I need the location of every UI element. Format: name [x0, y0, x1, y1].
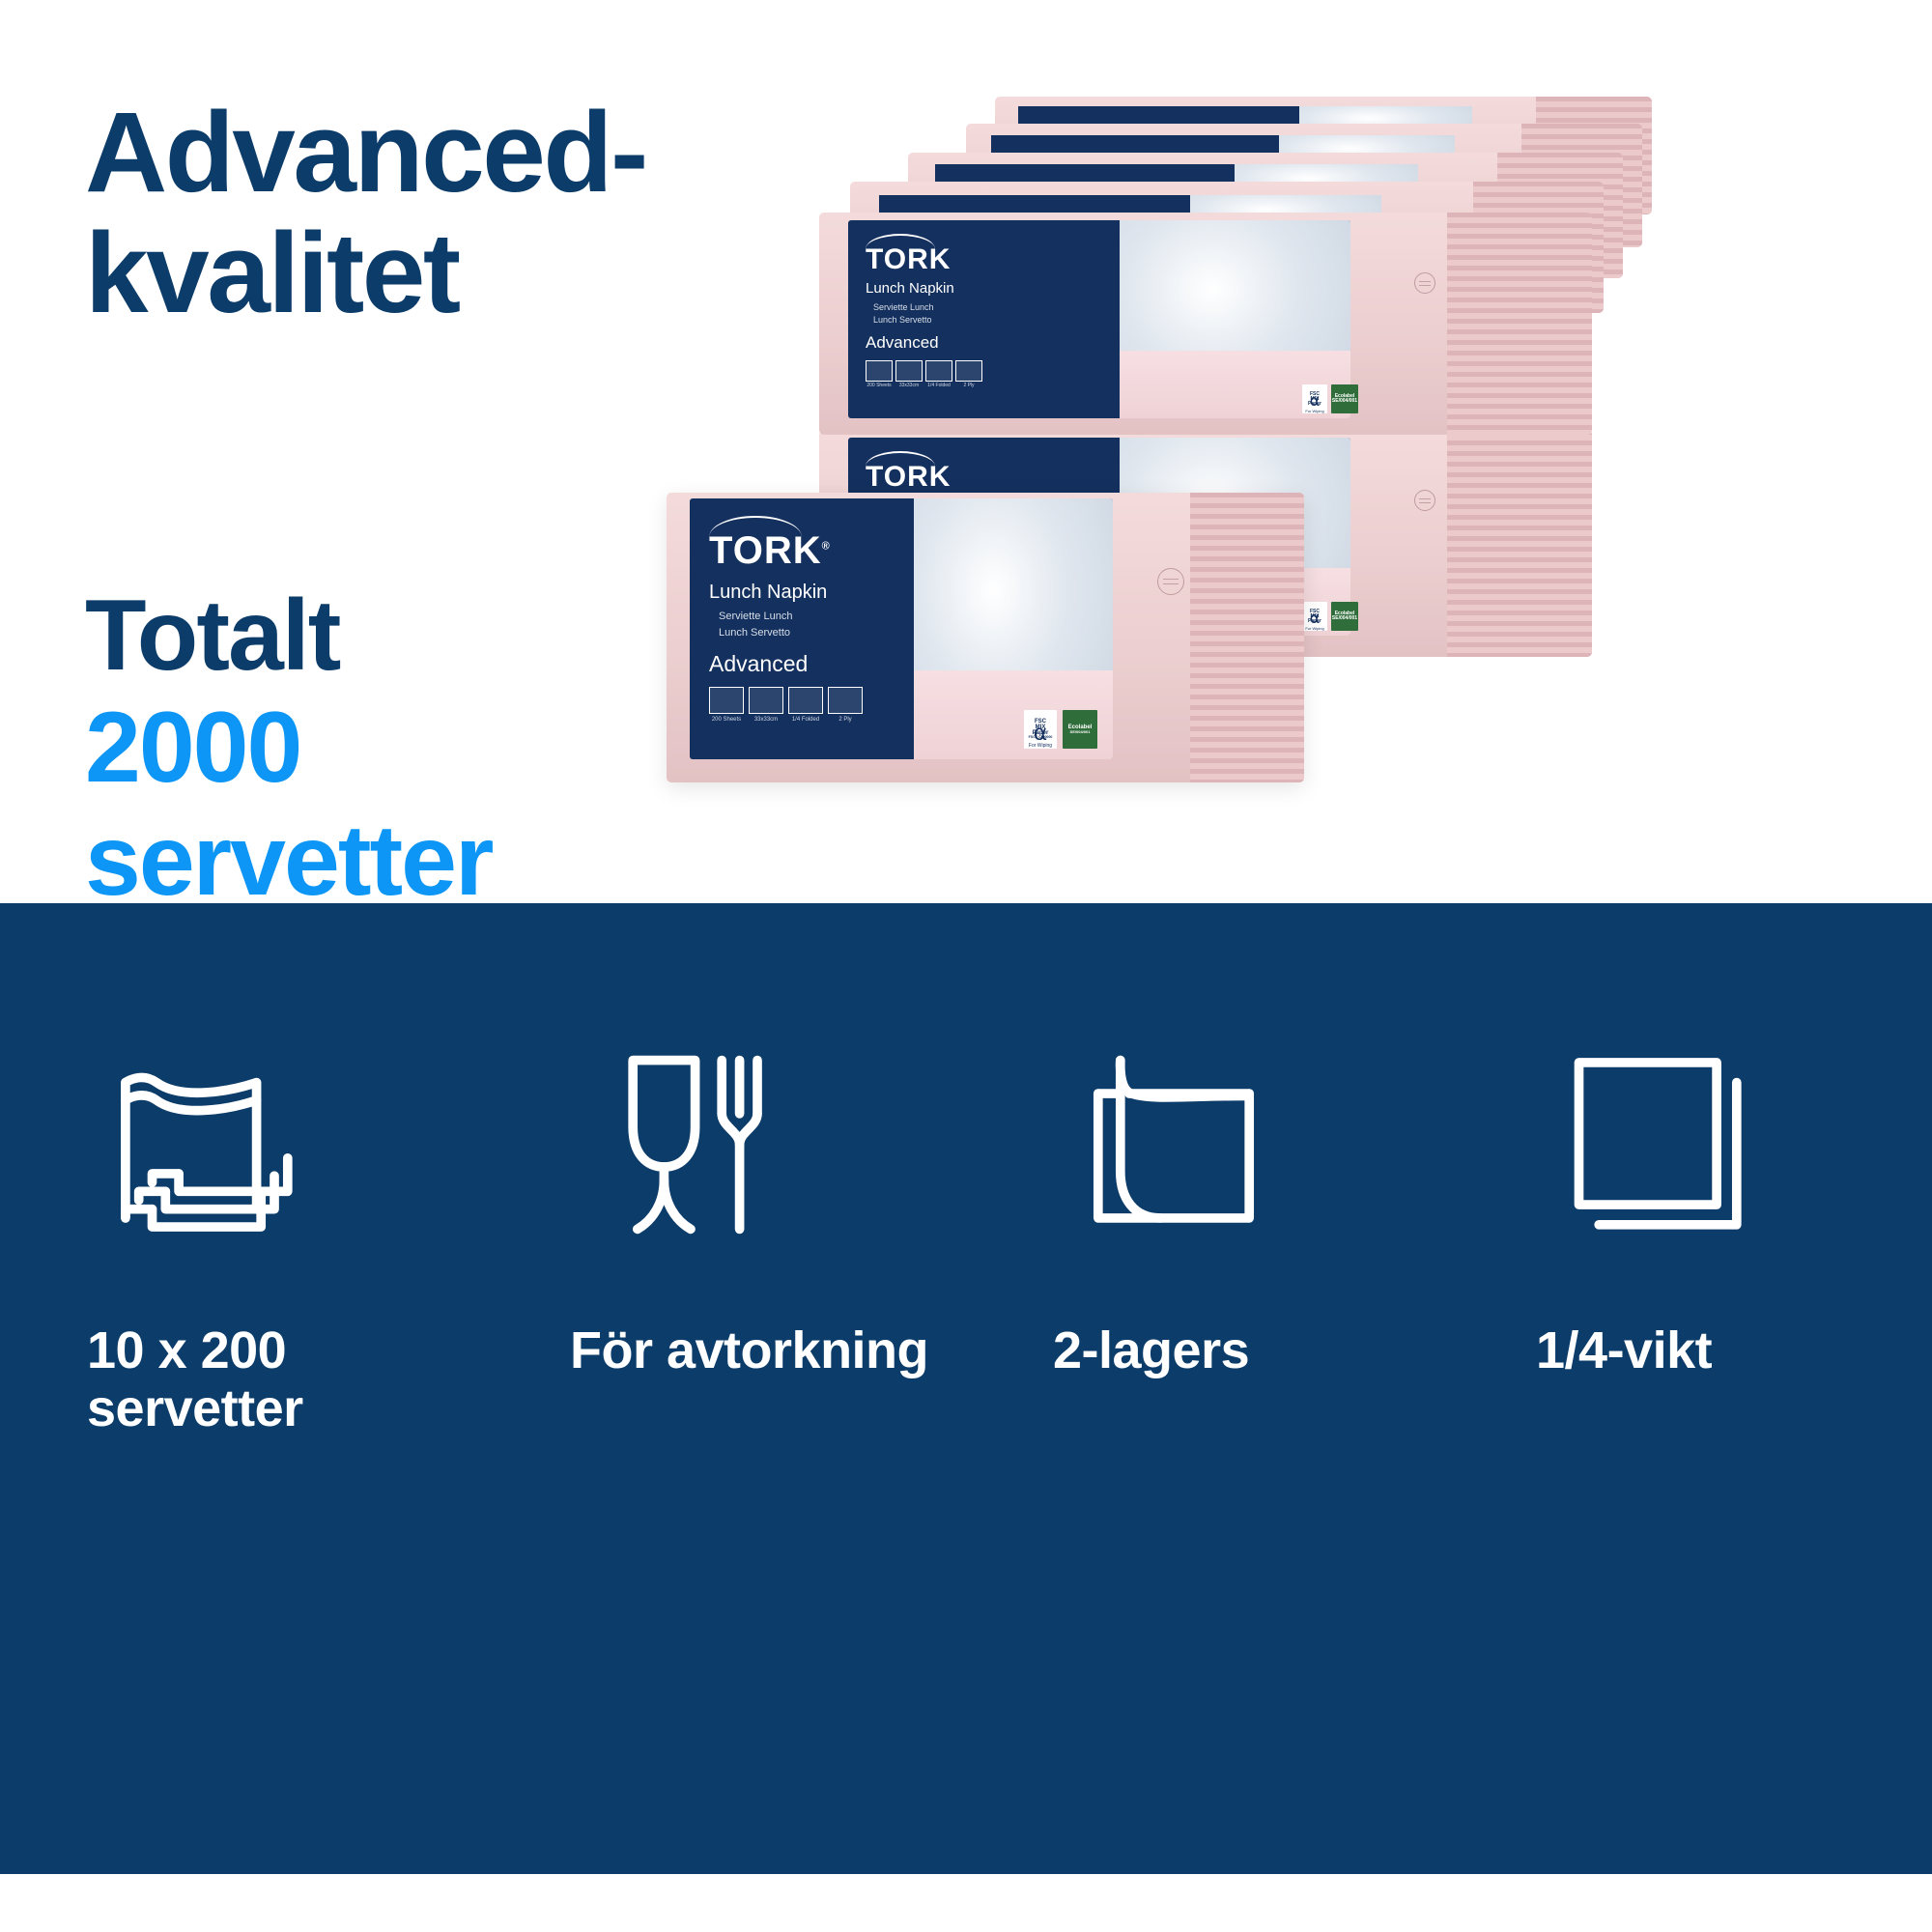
pack-emboss-mark [1414, 490, 1435, 511]
sheets-icon [866, 360, 893, 382]
product-title: Lunch Napkin [866, 280, 954, 297]
product-subtitle-1: Serviette Lunch [873, 301, 934, 314]
top-section: Advanced- kvalitet Totalt 2000 servetter [0, 0, 1932, 903]
pack-stack-edge [1447, 430, 1592, 657]
brand-logo: TORK® [709, 531, 831, 570]
pack-upper-main: TORK Lunch Napkin Serviette Lunch Lunch … [819, 213, 1592, 435]
two-ply-icon [1053, 1024, 1294, 1265]
spec-caption: 33x33cm [895, 384, 923, 388]
spec-caption: 2 Ply [828, 717, 863, 723]
feature-stacked-napkins: 10 x 200 servetter [0, 1024, 483, 1438]
badge-caption: For Wiping [1029, 744, 1052, 749]
spec-caption: 1/4 Folded [925, 384, 952, 388]
certification-row: FSC MIX Paper Ecolabel SE/004/001 ⍺ For … [1302, 384, 1358, 413]
stacked-napkins-icon [87, 1024, 328, 1265]
feature-for-wiping: För avtorkning [483, 1024, 966, 1438]
spec-item: 1/4 Folded [925, 360, 952, 388]
features-row: 10 x 200 servetter [0, 1024, 1932, 1438]
pack-stack-edge [1190, 493, 1304, 782]
sheets-icon [709, 687, 744, 714]
glass-and-fork-icon [570, 1024, 811, 1265]
size-icon [895, 360, 923, 382]
spec-caption: 200 Sheets [709, 717, 744, 723]
ply-icon [828, 687, 863, 714]
glass-fork-icon: ⍺ [1034, 723, 1048, 744]
feature-label: 1/4-vikt [1536, 1321, 1712, 1379]
brand-logo: TORK [866, 245, 951, 274]
spec-item: 33x33cm [749, 687, 783, 723]
spec-item: 2 Ply [955, 360, 982, 388]
eu-ecolabel-badge: Ecolabel SE/004/001 [1063, 710, 1097, 749]
certification-row: FSC MIX Paper Ecolabel SE/004/001 ⍺ For … [1302, 602, 1358, 631]
pack-front: TORK® Lunch Napkin Serviette Lunch Lunch… [667, 493, 1304, 782]
product-title: Lunch Napkin [709, 582, 827, 604]
spec-row: 200 Sheets 33x33cm 1/4 Folded 2 Ply [866, 360, 982, 388]
glass-fork-icon: ⍺ [1310, 611, 1321, 627]
spec-caption: 200 Sheets [866, 384, 893, 388]
fold-icon [788, 687, 823, 714]
brand-registered-mark: ® [822, 541, 831, 553]
pack-stack-edge [1447, 213, 1592, 435]
ply-icon [955, 360, 982, 382]
product-subtitle-2: Lunch Servetto [719, 626, 790, 641]
product-photo: TORK Lunch Napkin Serviette Lunch Lunch … [792, 97, 1903, 898]
glass-fork-icon: ⍺ [1310, 394, 1321, 410]
feature-two-ply: 2-lagers [966, 1024, 1449, 1438]
product-quality: Advanced [709, 653, 808, 675]
features-panel: 10 x 200 servetter [0, 903, 1932, 1874]
food-contact-badge: ⍺ For Wiping [1302, 602, 1327, 631]
spec-item: 200 Sheets [866, 360, 893, 388]
spec-row: 200 Sheets 33x33cm 1/4 Folded 2 Ply [709, 687, 863, 723]
spec-item: 33x33cm [895, 360, 923, 388]
brand-logo: TORK [866, 463, 951, 492]
ecolabel-line2: SE/004/001 [1332, 399, 1357, 404]
badge-caption: For Wiping [1305, 627, 1323, 631]
pack-emboss-mark [1157, 568, 1184, 595]
product-subtitle-1: Serviette Lunch [719, 610, 792, 625]
pack-label-upper: TORK Lunch Napkin Serviette Lunch Lunch … [848, 220, 1350, 418]
page-title: Advanced- kvalitet [85, 93, 819, 334]
badge-caption: For Wiping [1305, 410, 1323, 413]
food-contact-badge: ⍺ For Wiping [1302, 384, 1327, 413]
spec-item: 1/4 Folded [788, 687, 823, 723]
size-icon [749, 687, 783, 714]
eu-ecolabel-badge: Ecolabel SE/004/001 [1331, 384, 1358, 413]
feature-label: För avtorkning [570, 1321, 928, 1379]
quarter-fold-icon [1536, 1024, 1777, 1265]
spec-caption: 33x33cm [749, 717, 783, 723]
ecolabel-line2: SE/004/001 [1332, 616, 1357, 621]
product-quality: Advanced [866, 334, 939, 351]
brand-text: TORK [709, 529, 822, 572]
feature-quarter-fold: 1/4-vikt [1449, 1024, 1932, 1438]
food-contact-badge: ⍺ For Wiping [1024, 710, 1057, 749]
certification-row: FSC MIX Paper FSC® C000000 Ecolabel SE/0… [1024, 710, 1097, 749]
feature-label: 2-lagers [1053, 1321, 1249, 1379]
feature-label: 10 x 200 servetter [87, 1321, 303, 1438]
bottom-white-strip [0, 1874, 1932, 1932]
spec-caption: 1/4 Folded [788, 717, 823, 723]
headline-block: Advanced- kvalitet [85, 93, 819, 334]
spec-item: 200 Sheets [709, 687, 744, 723]
eu-ecolabel-badge: Ecolabel SE/004/001 [1331, 602, 1358, 631]
ecolabel-line2: SE/004/001 [1070, 730, 1091, 734]
pack-emboss-mark [1414, 272, 1435, 294]
fold-icon [925, 360, 952, 382]
spec-caption: 2 Ply [955, 384, 982, 388]
spec-item: 2 Ply [828, 687, 863, 723]
product-subtitle-2: Lunch Servetto [873, 314, 932, 327]
